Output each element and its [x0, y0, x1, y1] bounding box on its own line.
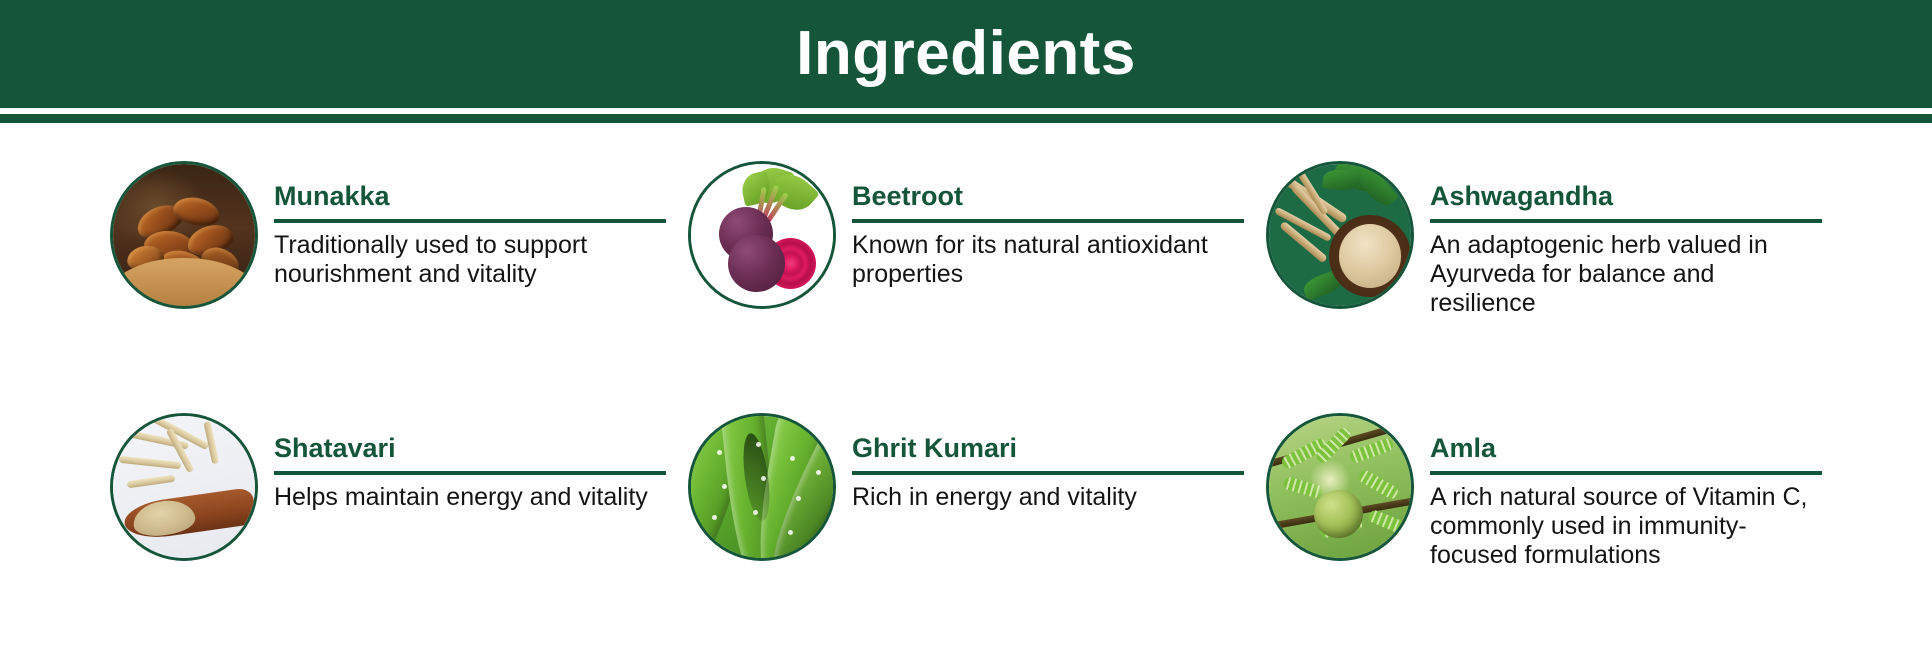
munakka-body: Munakka Traditionally used to support no… [274, 153, 666, 289]
ingredient-name: Shatavari [274, 433, 666, 467]
ingredient-card-amla: Amla A rich natural source of Vitamin C,… [1266, 405, 1822, 647]
ingredient-description: Known for its natural antioxidant proper… [852, 231, 1244, 289]
ingredient-description: A rich natural source of Vitamin C, comm… [1430, 483, 1822, 570]
ingredient-name: Ghrit Kumari [852, 433, 1244, 467]
header-band: Ingredients [0, 0, 1932, 108]
ingredient-card-ashwagandha: Ashwagandha An adaptogenic herb valued i… [1266, 153, 1822, 395]
title-underline [852, 471, 1244, 475]
title-underline [1430, 471, 1822, 475]
page-header: Ingredients [0, 0, 1932, 123]
shatavari-body: Shatavari Helps maintain energy and vita… [274, 405, 666, 512]
ingredient-card-beetroot: Beetroot Known for its natural antioxida… [688, 153, 1244, 395]
ingredient-name: Munakka [274, 181, 666, 215]
ingredient-description: Rich in energy and vitality [852, 483, 1244, 512]
header-accent-stripe [0, 114, 1932, 123]
ingredients-grid: Munakka Traditionally used to support no… [0, 123, 1932, 647]
ingredient-name: Beetroot [852, 181, 1244, 215]
ashwagandha-body: Ashwagandha An adaptogenic herb valued i… [1430, 153, 1822, 318]
beetroot-body: Beetroot Known for its natural antioxida… [852, 153, 1244, 289]
title-underline [274, 471, 666, 475]
amla-image [1266, 413, 1414, 561]
title-underline [274, 219, 666, 223]
page-title: Ingredients [796, 23, 1136, 85]
amla-body: Amla A rich natural source of Vitamin C,… [1430, 405, 1822, 570]
ghrit-kumari-image [688, 413, 836, 561]
ingredient-name: Amla [1430, 433, 1822, 467]
ingredient-description: An adaptogenic herb valued in Ayurveda f… [1430, 231, 1822, 318]
ghrit-kumari-body: Ghrit Kumari Rich in energy and vitality [852, 405, 1244, 512]
ingredient-card-shatavari: Shatavari Helps maintain energy and vita… [110, 405, 666, 647]
ingredient-description: Helps maintain energy and vitality [274, 483, 666, 512]
title-underline [1430, 219, 1822, 223]
ingredient-name: Ashwagandha [1430, 181, 1822, 215]
ashwagandha-image [1266, 161, 1414, 309]
munakka-image [110, 161, 258, 309]
ingredient-card-munakka: Munakka Traditionally used to support no… [110, 153, 666, 395]
ingredient-description: Traditionally used to support nourishmen… [274, 231, 666, 289]
beetroot-image [688, 161, 836, 309]
ingredient-card-ghrit-kumari: Ghrit Kumari Rich in energy and vitality [688, 405, 1244, 647]
shatavari-image [110, 413, 258, 561]
title-underline [852, 219, 1244, 223]
